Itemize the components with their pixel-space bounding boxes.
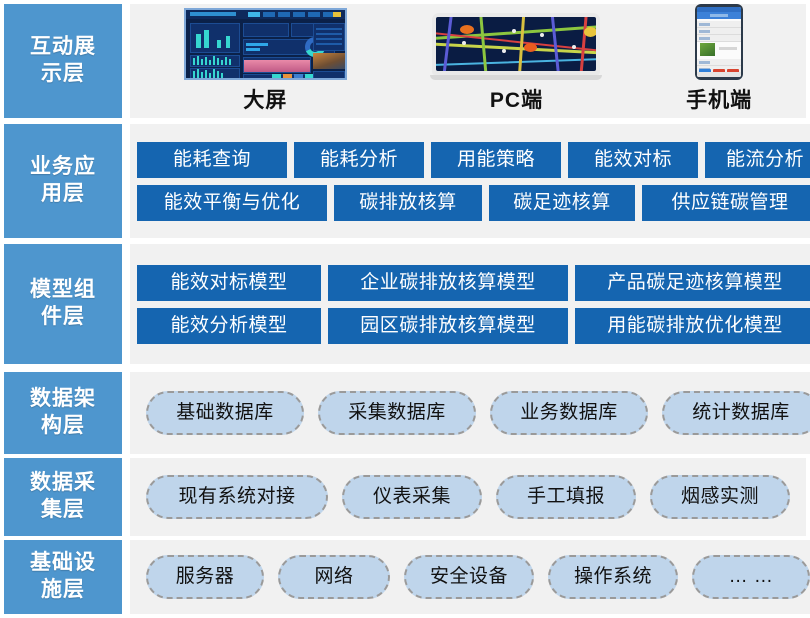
layer-label-line1: 业务应 [30, 155, 96, 178]
layer-model-component: 模型组 件层 能效对标模型 企业碳排放核算模型 产品碳足迹核算模型 能效分析模型… [4, 244, 806, 364]
layer-interactive-display: 互动展 示层 [4, 4, 806, 118]
pill-business-database[interactable]: 业务数据库 [490, 391, 648, 435]
layer-label-model-component: 模型组 件层 [4, 244, 122, 364]
model-component-body: 能效对标模型 企业碳排放核算模型 产品碳足迹核算模型 能效分析模型 园区碳排放核… [130, 244, 810, 364]
layer-label-business-application: 业务应 用层 [4, 124, 122, 238]
device-caption-pc: PC端 [490, 84, 543, 114]
layer-label-line1: 数据架 [30, 387, 96, 410]
smartphone-icon [695, 4, 743, 80]
chip-efficiency-benchmark-model[interactable]: 能效对标模型 [137, 265, 321, 301]
pill-basic-database[interactable]: 基础数据库 [146, 391, 304, 435]
infrastructure-body: 服务器 网络 安全设备 操作系统 … … [130, 540, 810, 614]
layer-label-line1: 互动展 [30, 35, 96, 58]
chip-efficiency-balance-optimization[interactable]: 能效平衡与优化 [137, 185, 327, 221]
layer-data-collection: 数据采 集层 现有系统对接 仪表采集 手工填报 烟感实测 [4, 458, 806, 536]
layer-label-line2: 示层 [41, 62, 85, 85]
layer-label-interactive-display: 互动展 示层 [4, 4, 122, 118]
pill-statistics-database[interactable]: 统计数据库 [662, 391, 810, 435]
business-application-row-2: 能效平衡与优化 碳排放核算 碳足迹核算 供应链碳管理 [130, 185, 810, 221]
layer-label-line2: 施层 [41, 578, 85, 601]
big-screen-display-icon [184, 8, 347, 80]
device-pc: PC端 [430, 13, 602, 114]
pill-meter-collection[interactable]: 仪表采集 [342, 475, 482, 519]
business-application-row-1: 能耗查询 能耗分析 用能策略 能效对标 能流分析 [130, 142, 810, 178]
layer-label-line2: 件层 [41, 305, 85, 328]
layer-label-line1: 模型组 [30, 278, 96, 301]
pill-manual-entry[interactable]: 手工填报 [496, 475, 636, 519]
device-mobile: 手机端 [686, 4, 752, 114]
layer-label-line2: 构层 [41, 414, 85, 437]
layer-label-data-collection: 数据采 集层 [4, 458, 122, 536]
device-caption-big-screen: 大屏 [243, 84, 287, 114]
data-collection-body: 现有系统对接 仪表采集 手工填报 烟感实测 [130, 458, 806, 536]
chip-park-carbon-accounting-model[interactable]: 园区碳排放核算模型 [328, 308, 568, 344]
chip-enterprise-carbon-accounting-model[interactable]: 企业碳排放核算模型 [328, 265, 568, 301]
layer-label-infrastructure: 基础设 施层 [4, 540, 122, 614]
layer-label-line1: 基础设 [30, 551, 96, 574]
device-caption-mobile: 手机端 [686, 84, 752, 114]
data-architecture-row-1: 基础数据库 采集数据库 业务数据库 统计数据库 [130, 391, 810, 435]
pill-ellipsis[interactable]: … … [692, 555, 810, 599]
chip-energy-flow-analysis[interactable]: 能流分析 [705, 142, 810, 178]
pill-collection-database[interactable]: 采集数据库 [318, 391, 476, 435]
chip-efficiency-analysis-model[interactable]: 能效分析模型 [137, 308, 321, 344]
infrastructure-row-1: 服务器 网络 安全设备 操作系统 … … [130, 555, 810, 599]
chip-carbon-footprint-accounting[interactable]: 碳足迹核算 [489, 185, 635, 221]
layer-label-line1: 数据采 [30, 471, 96, 494]
layer-data-architecture: 数据架 构层 基础数据库 采集数据库 业务数据库 统计数据库 [4, 372, 806, 454]
layer-label-line2: 用层 [41, 182, 85, 205]
data-architecture-body: 基础数据库 采集数据库 业务数据库 统计数据库 [130, 372, 810, 454]
chip-supply-chain-carbon-management[interactable]: 供应链碳管理 [642, 185, 810, 221]
data-collection-row-1: 现有系统对接 仪表采集 手工填报 烟感实测 [130, 475, 806, 519]
chip-carbon-emission-accounting[interactable]: 碳排放核算 [334, 185, 482, 221]
device-showcase: 大屏 [130, 4, 806, 118]
model-component-row-1: 能效对标模型 企业碳排放核算模型 产品碳足迹核算模型 [130, 265, 810, 301]
laptop-icon [430, 13, 602, 80]
chip-energy-consumption-analysis[interactable]: 能耗分析 [294, 142, 424, 178]
pill-smoke-sensor-measurement[interactable]: 烟感实测 [650, 475, 790, 519]
architecture-diagram: 互动展 示层 [0, 0, 810, 618]
pill-network[interactable]: 网络 [278, 555, 390, 599]
chip-energy-efficiency-benchmark[interactable]: 能效对标 [568, 142, 698, 178]
chip-energy-carbon-optimization-model[interactable]: 用能碳排放优化模型 [575, 308, 810, 344]
business-application-body: 能耗查询 能耗分析 用能策略 能效对标 能流分析 能效平衡与优化 碳排放核算 碳… [130, 124, 810, 238]
layer-business-application: 业务应 用层 能耗查询 能耗分析 用能策略 能效对标 能流分析 能效平衡与优化 … [4, 124, 806, 238]
chip-energy-consumption-query[interactable]: 能耗查询 [137, 142, 287, 178]
pill-operating-system[interactable]: 操作系统 [548, 555, 678, 599]
chip-product-carbon-footprint-model[interactable]: 产品碳足迹核算模型 [575, 265, 810, 301]
device-big-screen: 大屏 [184, 8, 347, 114]
pill-server[interactable]: 服务器 [146, 555, 264, 599]
layer-label-data-architecture: 数据架 构层 [4, 372, 122, 454]
pill-existing-system-integration[interactable]: 现有系统对接 [146, 475, 328, 519]
model-component-row-2: 能效分析模型 园区碳排放核算模型 用能碳排放优化模型 [130, 308, 810, 344]
chip-energy-use-strategy[interactable]: 用能策略 [431, 142, 561, 178]
pill-security-equipment[interactable]: 安全设备 [404, 555, 534, 599]
layer-infrastructure: 基础设 施层 服务器 网络 安全设备 操作系统 … … [4, 540, 806, 614]
layer-label-line2: 集层 [41, 498, 85, 521]
